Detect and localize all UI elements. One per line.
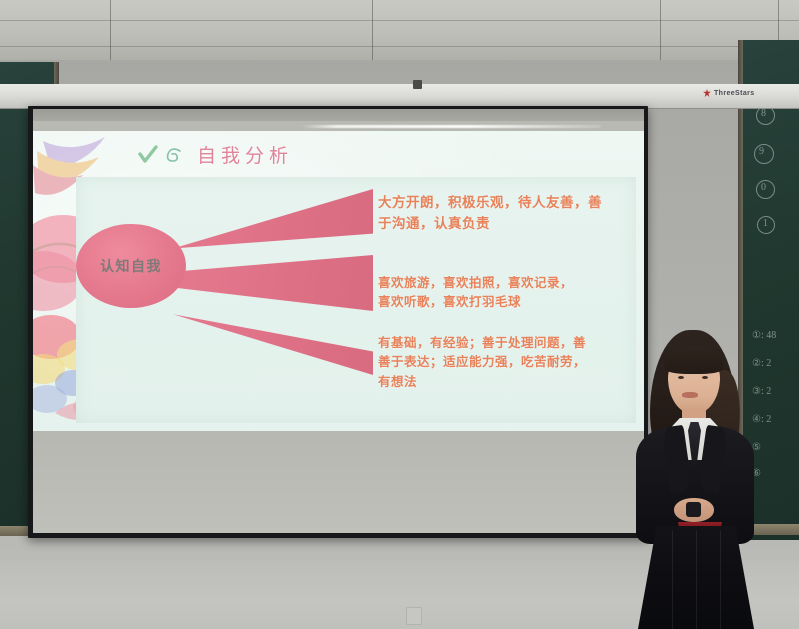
swirl-ornament-icon [163,147,183,165]
wall-outlet [406,607,422,625]
branch-text-2-line-2: 喜欢听歌，喜欢打羽毛球 [378,292,640,311]
classroom-scene: 8 9 0 1 ①: 48 ②: 2 ③: 2 ④: 2 ⑤ ⑥ ThreeSt… [0,0,799,629]
branch-text-3: 有基础，有经验；善于处理问题，善 善于表达；适应能力强，吃苦耐劳， 有想法 [378,333,640,391]
branch-text-1-line-1: 大方开朗，积极乐观，待人友善，善 [378,193,638,214]
light-reflection [301,125,601,128]
branch-text-3-line-2: 善于表达；适应能力强，吃苦耐劳， [378,352,640,371]
presenter [612,330,780,629]
branch-text-2: 喜欢旅游，喜欢拍照，喜欢记录， 喜欢听歌，喜欢打羽毛球 [378,273,640,312]
star-icon [703,89,711,97]
projector-brand: ThreeStars [703,89,755,97]
branch-text-3-line-3: 有想法 [378,372,640,391]
slide-title: 自我分析 [197,141,293,168]
presentation-clicker [686,502,701,517]
branch-text-3-line-1: 有基础，有经验；善于处理问题，善 [378,333,640,352]
center-node-label: 认知自我 [100,256,162,276]
projector-brand-label: ThreeStars [714,90,755,97]
branch-text-1: 大方开朗，积极乐观，待人友善，善 于沟通，认真负责 [378,193,638,235]
branch-text-2-line-1: 喜欢旅游，喜欢拍照，喜欢记录， [378,273,640,292]
check-mark-icon [137,145,159,165]
presentation-slide: 自我分析 认知自我 大方开朗，积极乐观，待人友善，善 于沟通，认真负责 喜欢旅游… [33,131,644,431]
branch-text-1-line-2: 于沟通，认真负责 [378,214,638,235]
presenter-mouth [682,392,698,398]
center-node: 认知自我 [76,224,186,308]
projection-screen: 自我分析 认知自我 大方开朗，积极乐观，待人友善，善 于沟通，认真负责 喜欢旅游… [33,109,644,533]
